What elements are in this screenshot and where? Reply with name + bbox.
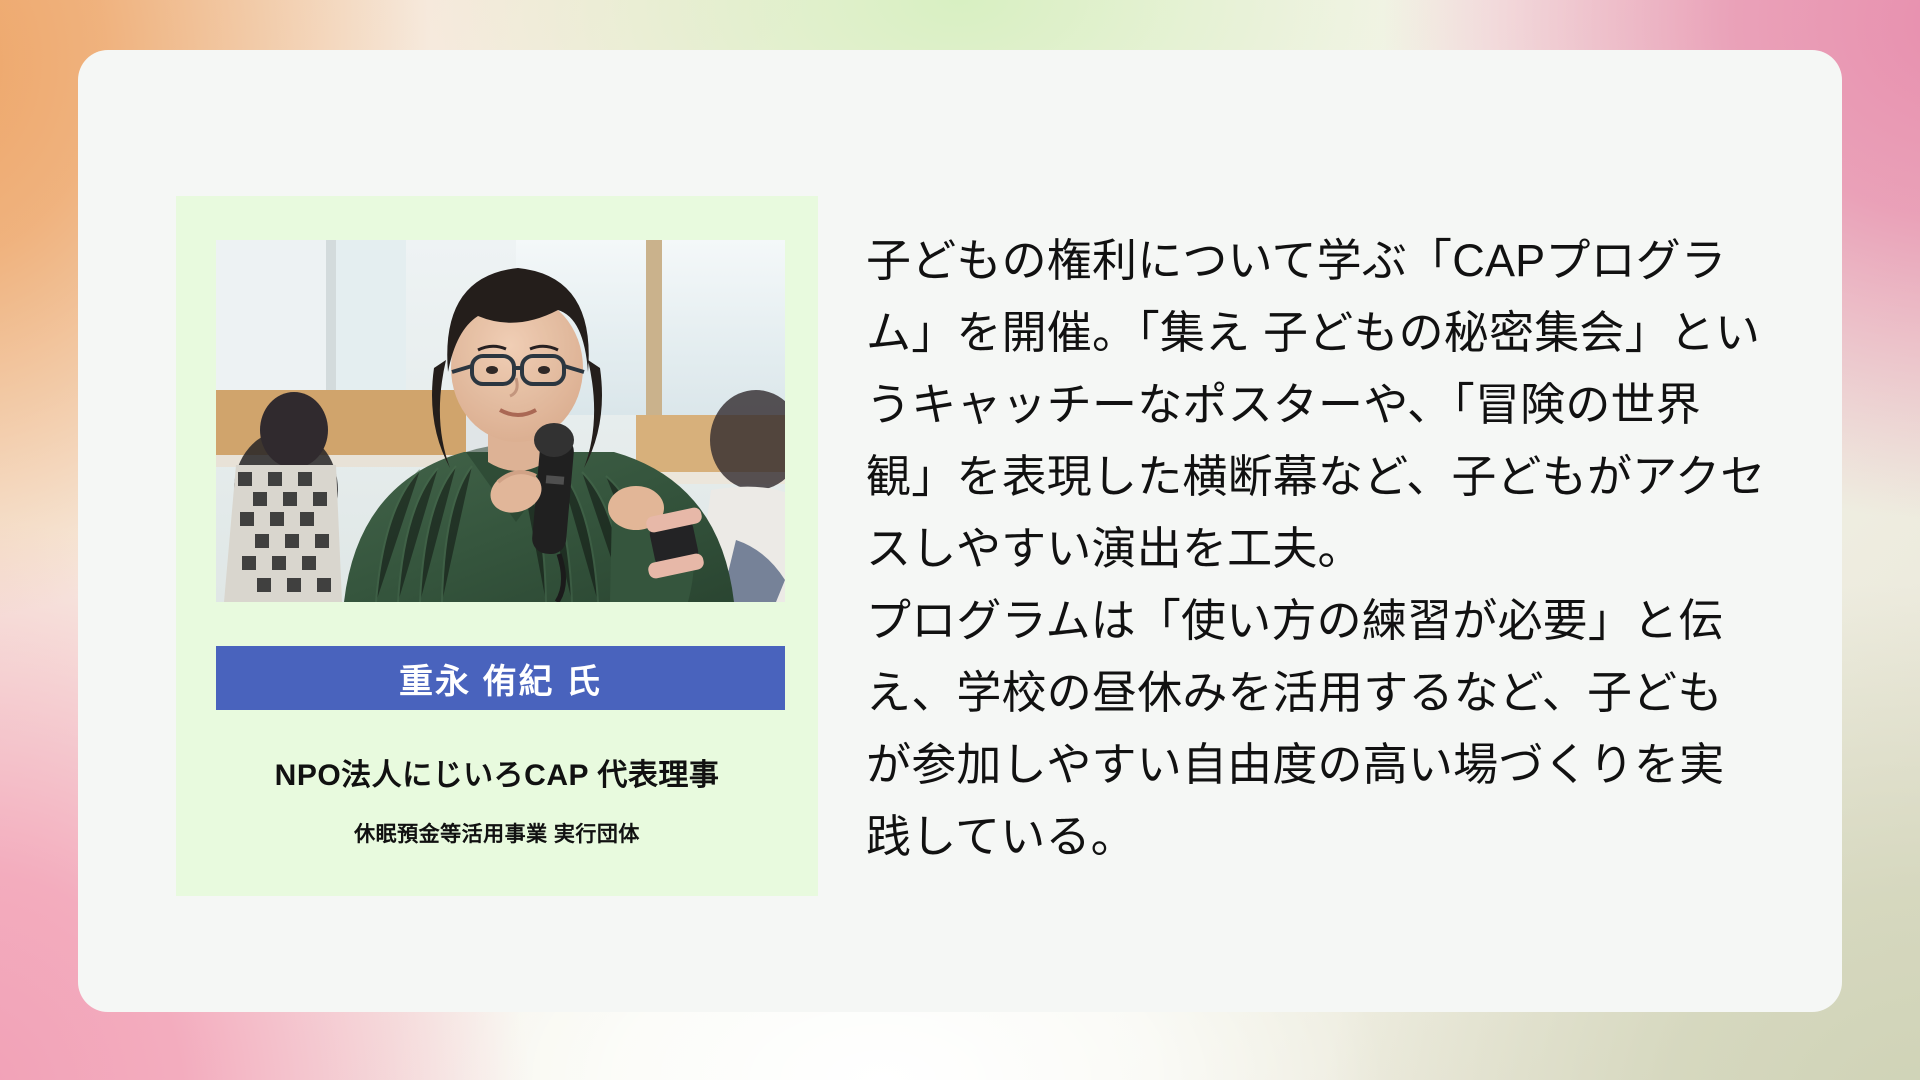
slide-background: 重永 侑紀 氏 NPO法人にじいろCAP 代表理事 休眠預金等活用事業 実行団体…	[0, 0, 1920, 1080]
content-card: 重永 侑紀 氏 NPO法人にじいろCAP 代表理事 休眠預金等活用事業 実行団体…	[78, 50, 1842, 1012]
speaker-photo	[216, 240, 785, 602]
profile-panel: 重永 侑紀 氏 NPO法人にじいろCAP 代表理事 休眠預金等活用事業 実行団体	[176, 196, 818, 896]
speaker-organization: NPO法人にじいろCAP 代表理事	[176, 750, 818, 794]
speaker-name-banner: 重永 侑紀 氏	[216, 646, 785, 710]
speaker-program-label: 休眠預金等活用事業 実行団体	[176, 818, 818, 848]
speaker-name: 重永 侑紀 氏	[399, 654, 602, 703]
description-body: 子どもの権利について学ぶ「CAPプログラム」を開催。「集え 子どもの秘密集会」と…	[866, 225, 1766, 873]
